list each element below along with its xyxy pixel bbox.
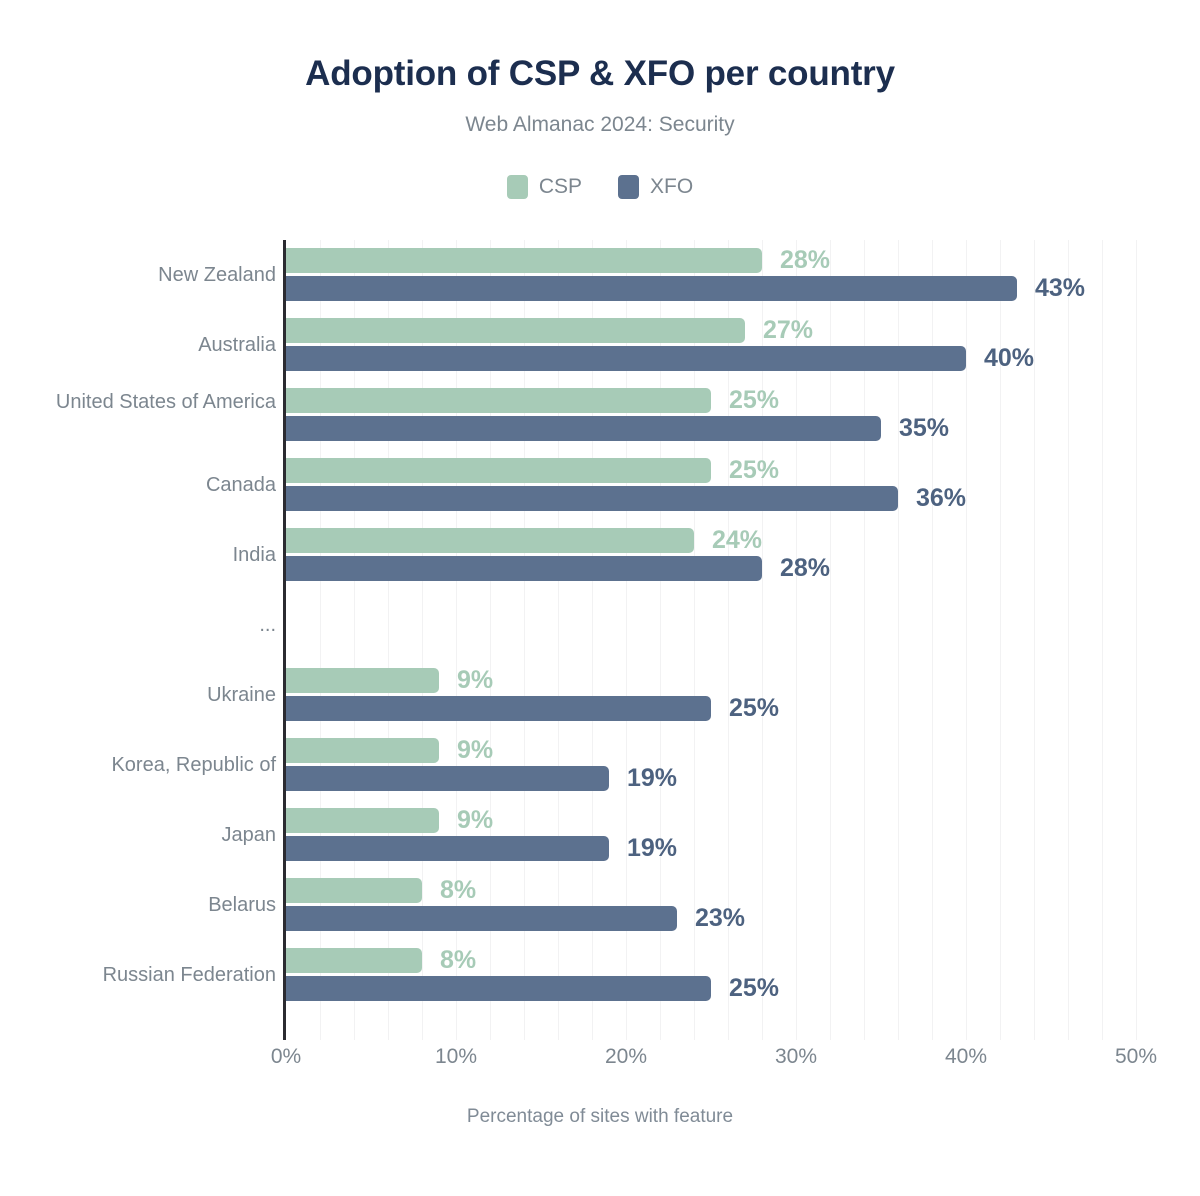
bar-group-row: 27%40% [286, 310, 1136, 380]
y-axis-label: United States of America [40, 390, 276, 415]
chart-subtitle: Web Almanac 2024: Security [0, 113, 1200, 137]
bar-group-row: 9%19% [286, 730, 1136, 800]
bar-group-row: 24%28% [286, 520, 1136, 590]
bar-csp[interactable]: 9% [286, 808, 493, 833]
bar-value-label-csp: 8% [440, 876, 476, 905]
bar-group-row: 25%35% [286, 380, 1136, 450]
bar-value-label-csp: 25% [729, 456, 779, 485]
bar-rect-csp[interactable] [286, 878, 422, 903]
bar-xfo[interactable]: 28% [286, 556, 830, 581]
bar-group-row: 8%25% [286, 940, 1136, 1010]
bar-value-label-csp: 9% [457, 736, 493, 765]
legend-swatch-csp [507, 175, 528, 199]
bar-csp[interactable]: 24% [286, 528, 762, 553]
legend-entry-csp[interactable]: CSP [507, 175, 582, 199]
y-axis-label: Australia [40, 333, 276, 358]
y-axis-label: Canada [40, 473, 276, 498]
bar-value-label-csp: 28% [780, 246, 830, 275]
bar-value-label-xfo: 25% [729, 974, 779, 1003]
x-tick-label: 50% [1115, 1045, 1157, 1069]
bar-group-row: 9%25% [286, 660, 1136, 730]
x-tick-label: 10% [435, 1045, 477, 1069]
bar-value-label-csp: 25% [729, 386, 779, 415]
bar-csp[interactable]: 9% [286, 738, 493, 763]
x-tick-label: 20% [605, 1045, 647, 1069]
bar-value-label-xfo: 19% [627, 764, 677, 793]
y-axis-label: Russian Federation [40, 963, 276, 988]
bar-xfo[interactable]: 36% [286, 486, 966, 511]
bar-group-row: 28%43% [286, 240, 1136, 310]
bar-value-label-xfo: 36% [916, 484, 966, 513]
bar-value-label-xfo: 43% [1035, 274, 1085, 303]
bar-csp[interactable]: 25% [286, 458, 779, 483]
bar-xfo[interactable]: 19% [286, 766, 677, 791]
y-axis-label: Japan [40, 823, 276, 848]
y-axis-label: India [40, 543, 276, 568]
bar-value-label-xfo: 23% [695, 904, 745, 933]
bar-rect-csp[interactable] [286, 738, 439, 763]
bar-rect-csp[interactable] [286, 528, 694, 553]
bar-value-label-xfo: 19% [627, 834, 677, 863]
bar-group-row: 25%36% [286, 450, 1136, 520]
bar-value-label-xfo: 35% [899, 414, 949, 443]
bar-xfo[interactable]: 43% [286, 276, 1085, 301]
bar-group-row: 8%23% [286, 870, 1136, 940]
y-axis-category-labels: New ZealandAustraliaUnited States of Ame… [40, 240, 276, 1040]
bar-rect-csp[interactable] [286, 668, 439, 693]
bar-rect-xfo[interactable] [286, 346, 966, 371]
bar-value-label-csp: 9% [457, 806, 493, 835]
bar-rect-csp[interactable] [286, 388, 711, 413]
y-axis-label: New Zealand [40, 263, 276, 288]
bar-rect-csp[interactable] [286, 318, 745, 343]
y-axis-label: Korea, Republic of [40, 753, 276, 778]
bar-csp[interactable]: 28% [286, 248, 830, 273]
legend-label: CSP [539, 175, 582, 199]
x-tick-label: 40% [945, 1045, 987, 1069]
bar-value-label-csp: 27% [763, 316, 813, 345]
x-tick-label: 0% [271, 1045, 301, 1069]
bar-xfo[interactable]: 25% [286, 696, 779, 721]
bar-group-row [286, 590, 1136, 660]
legend-entry-xfo[interactable]: XFO [618, 175, 693, 199]
bar-rect-xfo[interactable] [286, 416, 881, 441]
x-tick-label: 30% [775, 1045, 817, 1069]
bar-xfo[interactable]: 23% [286, 906, 745, 931]
bar-rect-xfo[interactable] [286, 486, 898, 511]
bar-xfo[interactable]: 19% [286, 836, 677, 861]
bar-rect-xfo[interactable] [286, 976, 711, 1001]
legend-swatch-xfo [618, 175, 639, 199]
bar-csp[interactable]: 8% [286, 948, 476, 973]
bar-xfo[interactable]: 35% [286, 416, 949, 441]
x-axis-title: Percentage of sites with feature [0, 1106, 1200, 1128]
gridline [1136, 240, 1137, 1040]
legend-label: XFO [650, 175, 693, 199]
chart-title: Adoption of CSP & XFO per country [0, 54, 1200, 94]
bar-rect-csp[interactable] [286, 458, 711, 483]
bar-rect-csp[interactable] [286, 948, 422, 973]
y-axis-label: Belarus [40, 893, 276, 918]
chart-legend: CSPXFO [0, 175, 1200, 199]
bar-rect-xfo[interactable] [286, 906, 677, 931]
bar-csp[interactable]: 9% [286, 668, 493, 693]
bar-csp[interactable]: 25% [286, 388, 779, 413]
bar-rect-csp[interactable] [286, 248, 762, 273]
bar-rect-csp[interactable] [286, 808, 439, 833]
bar-rect-xfo[interactable] [286, 276, 1017, 301]
bar-value-label-xfo: 40% [984, 344, 1034, 373]
bar-xfo[interactable]: 40% [286, 346, 1034, 371]
bar-value-label-xfo: 25% [729, 694, 779, 723]
bar-rect-xfo[interactable] [286, 696, 711, 721]
plot-area: 28%43%27%40%25%35%25%36%24%28%9%25%9%19%… [286, 240, 1136, 1040]
y-axis-label: ... [40, 613, 276, 638]
y-axis-label: Ukraine [40, 683, 276, 708]
bar-rect-xfo[interactable] [286, 556, 762, 581]
bar-value-label-csp: 24% [712, 526, 762, 555]
bar-rect-xfo[interactable] [286, 836, 609, 861]
bar-csp[interactable]: 8% [286, 878, 476, 903]
bar-value-label-xfo: 28% [780, 554, 830, 583]
bar-value-label-csp: 9% [457, 666, 493, 695]
x-axis-tick-labels: 0%10%20%30%40%50% [286, 1045, 1136, 1079]
bar-rect-xfo[interactable] [286, 766, 609, 791]
bar-group-row: 9%19% [286, 800, 1136, 870]
bar-value-label-csp: 8% [440, 946, 476, 975]
bar-csp[interactable]: 27% [286, 318, 813, 343]
bar-xfo[interactable]: 25% [286, 976, 779, 1001]
